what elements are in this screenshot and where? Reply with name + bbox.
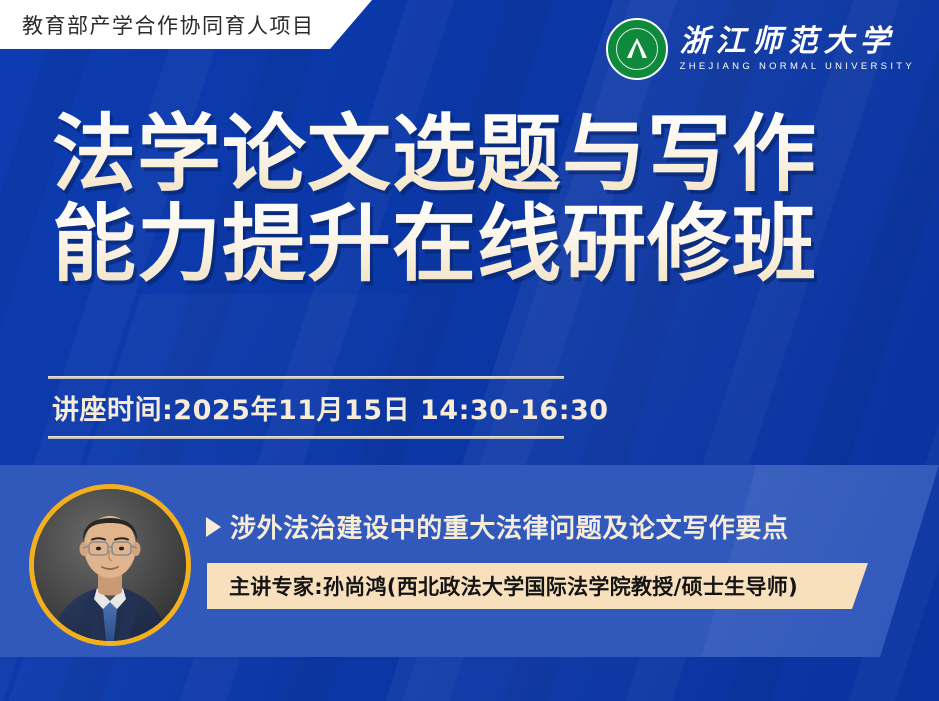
seal-arch-glyph-icon: [624, 36, 650, 62]
speaker-portrait: [29, 484, 191, 646]
university-wordmark: 浙江师范大学 ZHEJIANG NORMAL UNIVERSITY: [680, 27, 915, 72]
university-logo: 浙江师范大学 ZHEJIANG NORMAL UNIVERSITY: [606, 18, 915, 80]
university-name-cn: 浙江师范大学: [680, 27, 915, 57]
schedule-block: 讲座时间:2025年11月15日 14:30-16:30: [48, 376, 564, 439]
title-line-2: 能力提升在线研修班: [52, 200, 817, 290]
topic-row: 涉外法治建设中的重大法律问题及论文写作要点: [206, 508, 789, 545]
university-seal-icon: [606, 18, 668, 80]
topic-text: 涉外法治建设中的重大法律问题及论文写作要点: [230, 508, 789, 545]
speaker-bar: 主讲专家:孙尚鸿(西北政法大学国际法学院教授/硕士生导师): [207, 563, 868, 609]
poster-root: 教育部产学合作协同育人项目 浙江师范大学 ZHEJIANG NORMAL UNI…: [0, 0, 939, 701]
title-line-1: 法学论文选题与写作: [52, 110, 817, 200]
program-tag-label: 教育部产学合作协同育人项目: [22, 10, 315, 40]
schedule-text: 讲座时间:2025年11月15日 14:30-16:30: [48, 379, 564, 436]
poster-title: 法学论文选题与写作 能力提升在线研修班: [52, 110, 817, 290]
speaker-text: 主讲专家:孙尚鸿(西北政法大学国际法学院教授/硕士生导师): [229, 571, 798, 601]
triangle-bullet-icon: [206, 517, 221, 537]
program-tag-banner: 教育部产学合作协同育人项目: [0, 0, 372, 49]
university-name-en: ZHEJIANG NORMAL UNIVERSITY: [680, 62, 915, 72]
schedule-rule-bottom: [48, 436, 564, 439]
